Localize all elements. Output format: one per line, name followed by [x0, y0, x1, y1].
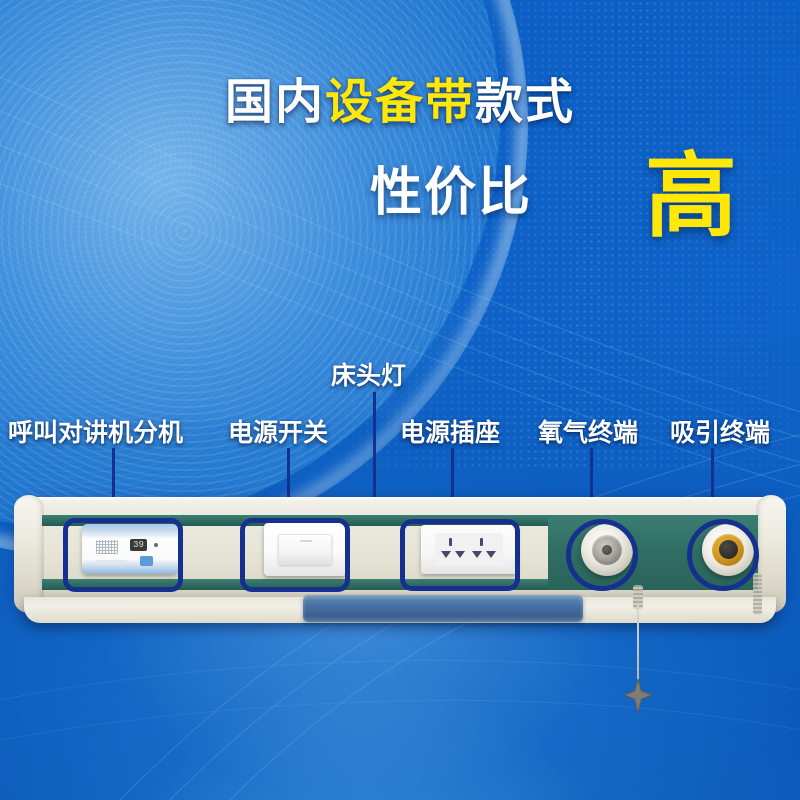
label-power-socket: 电源插座 — [400, 413, 500, 449]
bed-head-reading-lamp[interactable] — [303, 595, 583, 622]
pull-cord-weight-icon — [624, 679, 652, 713]
nurse-call-pull-cord[interactable] — [637, 605, 639, 683]
headline-line-1: 国内设备带款式 — [0, 78, 800, 128]
panel-end-cap-left — [14, 495, 44, 613]
headline-segment-white-b: 款式 — [475, 76, 575, 129]
headline-emphasis: 高 — [645, 122, 738, 255]
highlight-box-power-switch — [240, 518, 350, 592]
suction-cord-sheath — [753, 573, 762, 615]
highlight-circle-oxygen-terminal — [566, 519, 638, 591]
headline-line-2: 性价比 高 — [0, 144, 800, 230]
highlight-box-power-socket — [400, 519, 520, 591]
label-power-switch: 电源开关 — [228, 413, 328, 449]
label-bed-lamp: 床头灯 — [331, 356, 406, 392]
label-suction-terminal: 吸引终端 — [670, 413, 770, 449]
highlight-box-call-intercom — [63, 518, 183, 592]
poster-canvas: 国内设备带款式 性价比 高 呼叫对讲机分机 电源开关 床头灯 电源插座 氧气终端… — [0, 0, 800, 800]
headline-block: 国内设备带款式 性价比 高 — [0, 78, 800, 230]
highlight-circle-suction-terminal — [687, 519, 759, 591]
headline-subtext: 性价比 — [370, 150, 532, 225]
headline-segment-yellow: 设备带 — [325, 76, 475, 129]
label-call-intercom: 呼叫对讲机分机 — [8, 413, 183, 449]
headline-segment-white-a: 国内 — [225, 76, 325, 129]
label-oxygen-terminal: 氧气终端 — [538, 413, 638, 449]
